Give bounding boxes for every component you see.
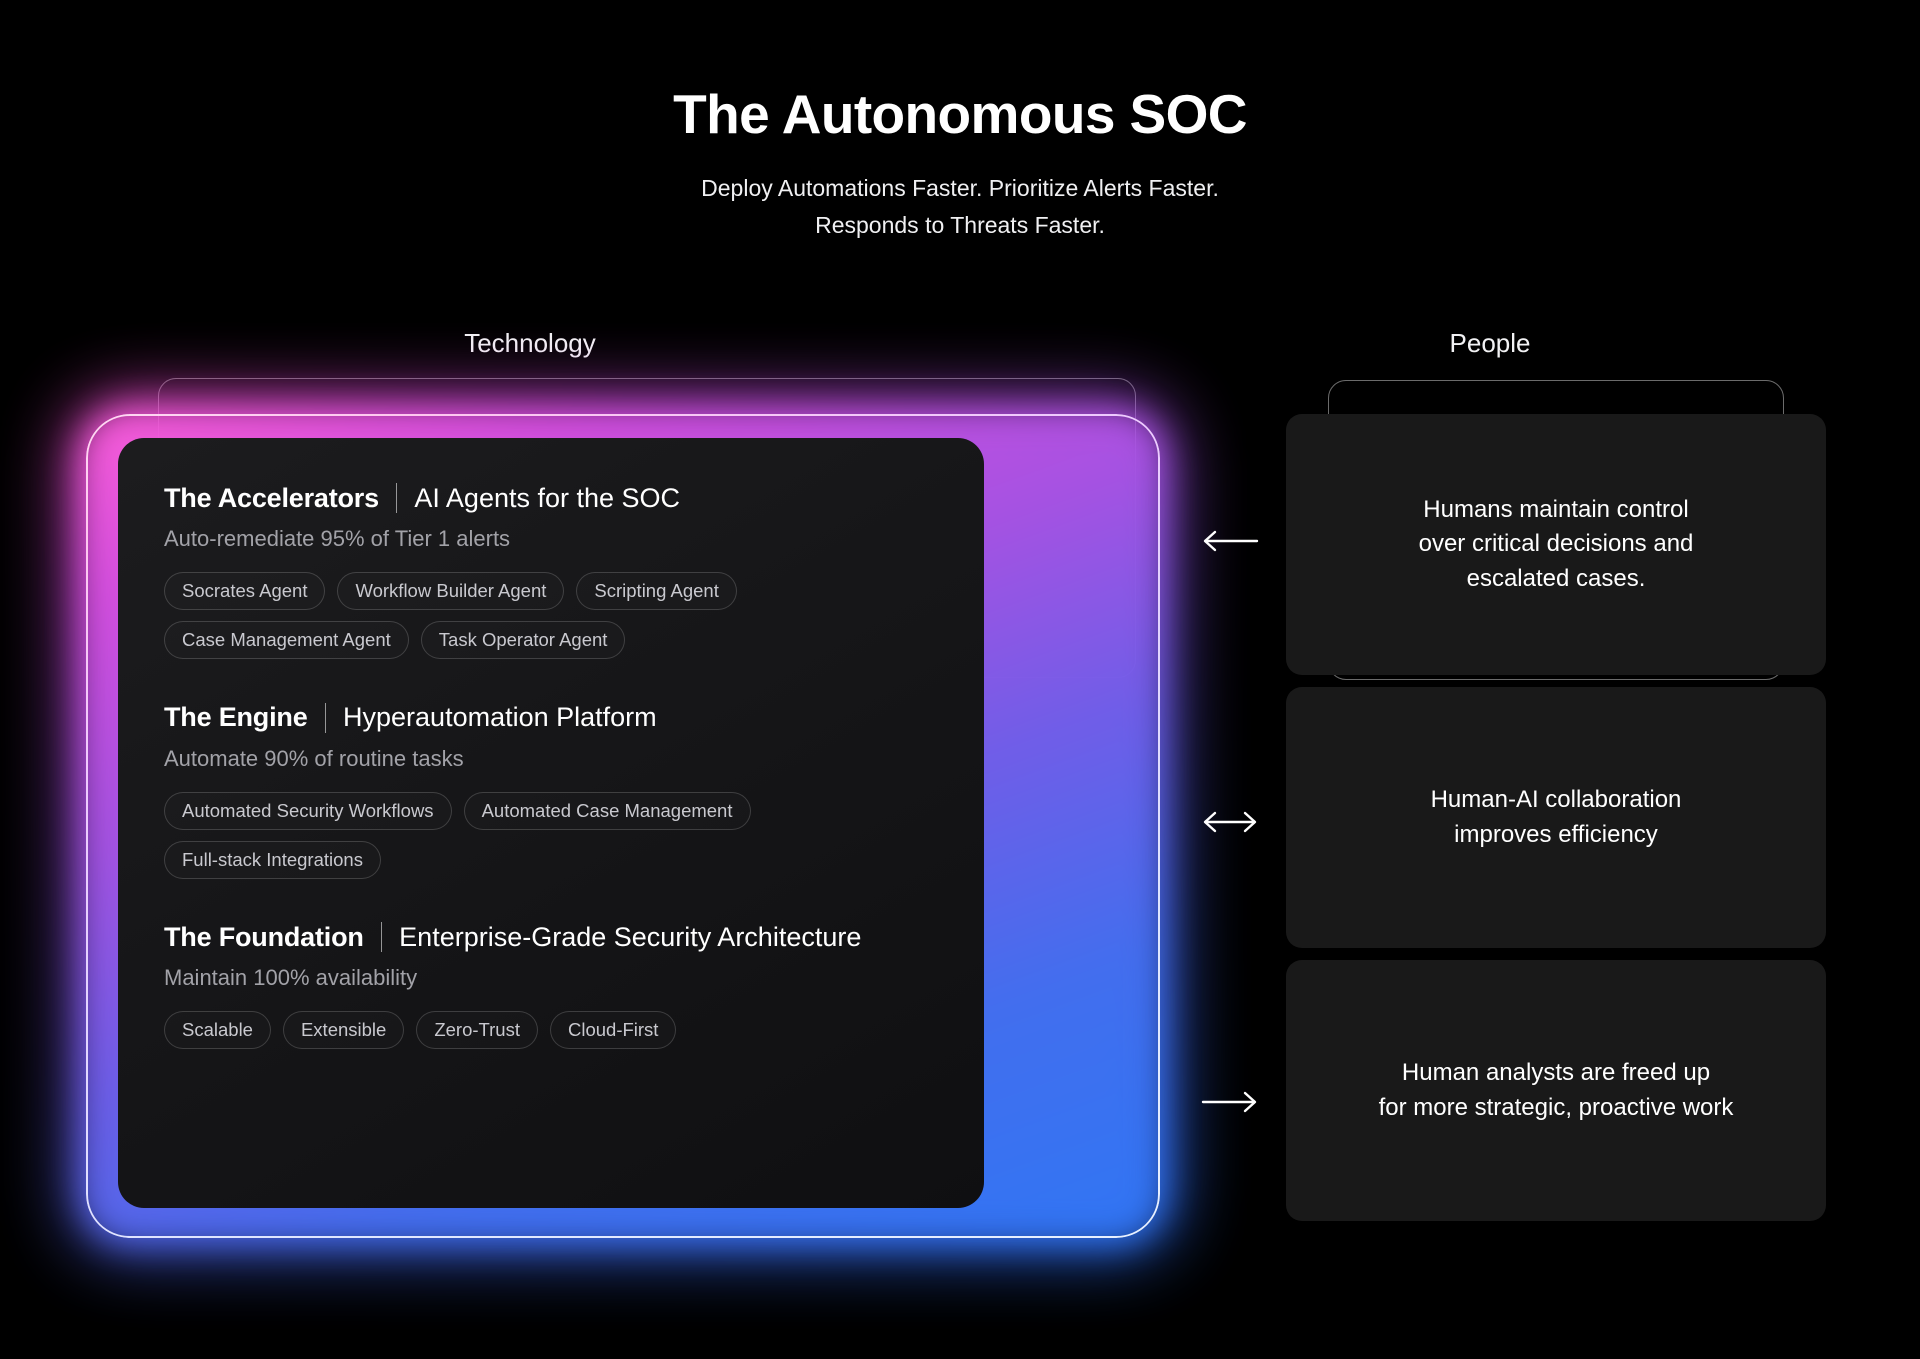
- column-label-technology: Technology: [320, 328, 740, 359]
- people-card: Human analysts are freed up for more str…: [1286, 960, 1826, 1221]
- tech-section-engine: The Engine Hyperautomation Platform Auto…: [164, 701, 938, 878]
- tag-chip[interactable]: Automated Security Workflows: [164, 792, 452, 830]
- tag-chip[interactable]: Automated Case Management: [464, 792, 751, 830]
- tag-chip[interactable]: Task Operator Agent: [421, 621, 626, 659]
- section-description: Automate 90% of routine tasks: [164, 746, 938, 772]
- people-card-line: over critical decisions and: [1419, 527, 1694, 561]
- people-card-text: Human analysts are freed up for more str…: [1379, 1056, 1734, 1124]
- section-divider-icon: [396, 483, 398, 513]
- section-description: Auto-remediate 95% of Tier 1 alerts: [164, 526, 938, 552]
- technology-glow-panel: The Accelerators AI Agents for the SOC A…: [68, 396, 1178, 1256]
- arrow-right-icon: [1195, 1088, 1265, 1116]
- autonomous-soc-slide: The Autonomous SOC Deploy Automations Fa…: [0, 0, 1920, 1359]
- people-card-line: Human analysts are freed up: [1379, 1056, 1734, 1090]
- arrow-left-icon: [1195, 527, 1265, 555]
- section-name: The Accelerators: [164, 482, 379, 514]
- column-label-people: People: [1340, 328, 1640, 359]
- tag-chip[interactable]: Extensible: [283, 1011, 404, 1049]
- section-tag-row: Automated Security Workflows Automated C…: [164, 792, 864, 879]
- people-card: Humans maintain control over critical de…: [1286, 414, 1826, 675]
- people-card-line: escalated cases.: [1419, 562, 1694, 596]
- tech-section-foundation: The Foundation Enterprise-Grade Security…: [164, 921, 938, 1049]
- tag-chip[interactable]: Scripting Agent: [576, 572, 736, 610]
- page-title: The Autonomous SOC: [0, 86, 1920, 144]
- technology-card: The Accelerators AI Agents for the SOC A…: [118, 438, 984, 1208]
- people-card-line: Human-AI collaboration: [1431, 783, 1682, 817]
- tech-section-accelerators: The Accelerators AI Agents for the SOC A…: [164, 482, 938, 659]
- section-divider-icon: [381, 922, 383, 952]
- arrow-left-right-icon: [1195, 808, 1265, 836]
- section-tag-row: Socrates Agent Workflow Builder Agent Sc…: [164, 572, 864, 659]
- people-card-line: for more strategic, proactive work: [1379, 1091, 1734, 1125]
- section-name: The Engine: [164, 701, 308, 733]
- section-headline: The Engine Hyperautomation Platform: [164, 701, 938, 733]
- people-card-line: improves efficiency: [1431, 818, 1682, 852]
- tag-chip[interactable]: Case Management Agent: [164, 621, 409, 659]
- subtitle-line-1: Deploy Automations Faster. Prioritize Al…: [0, 170, 1920, 207]
- people-card-text: Humans maintain control over critical de…: [1419, 493, 1694, 595]
- people-card-text: Human-AI collaboration improves efficien…: [1431, 783, 1682, 851]
- section-subtitle: AI Agents for the SOC: [414, 482, 680, 514]
- subtitle-line-2: Responds to Threats Faster.: [0, 207, 1920, 244]
- tag-chip[interactable]: Full-stack Integrations: [164, 841, 381, 879]
- page-header: The Autonomous SOC Deploy Automations Fa…: [0, 86, 1920, 243]
- section-description: Maintain 100% availability: [164, 965, 938, 991]
- people-column: Humans maintain control over critical de…: [1286, 414, 1826, 1233]
- section-headline: The Foundation Enterprise-Grade Security…: [164, 921, 938, 953]
- section-tag-row: Scalable Extensible Zero-Trust Cloud-Fir…: [164, 1011, 864, 1049]
- tag-chip[interactable]: Workflow Builder Agent: [337, 572, 564, 610]
- section-name: The Foundation: [164, 921, 364, 953]
- section-divider-icon: [325, 703, 327, 733]
- section-subtitle: Enterprise-Grade Security Architecture: [399, 921, 861, 953]
- tag-chip[interactable]: Zero-Trust: [416, 1011, 538, 1049]
- section-subtitle: Hyperautomation Platform: [343, 701, 657, 733]
- people-card: Human-AI collaboration improves efficien…: [1286, 687, 1826, 948]
- section-headline: The Accelerators AI Agents for the SOC: [164, 482, 938, 514]
- tag-chip[interactable]: Scalable: [164, 1011, 271, 1049]
- tag-chip[interactable]: Cloud-First: [550, 1011, 676, 1049]
- tag-chip[interactable]: Socrates Agent: [164, 572, 325, 610]
- page-subtitle: Deploy Automations Faster. Prioritize Al…: [0, 170, 1920, 244]
- people-card-line: Humans maintain control: [1419, 493, 1694, 527]
